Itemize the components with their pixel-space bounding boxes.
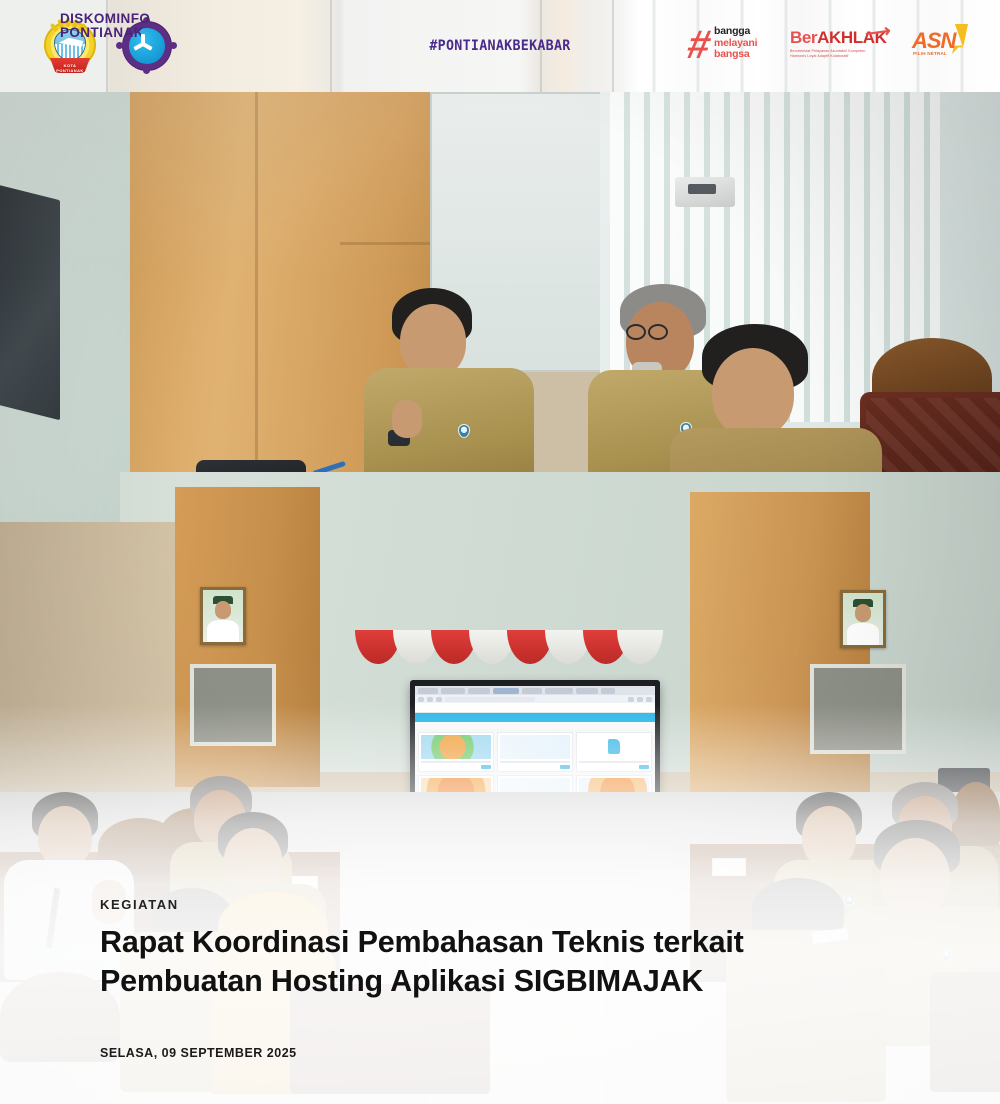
app-filter-bar[interactable]	[415, 722, 655, 729]
app-header-bar	[415, 703, 655, 713]
map-card[interactable]	[497, 732, 573, 772]
social-media-announcement-card: KOTA PONTIANAK DISKOMINFO PONTIANAK #PON…	[0, 0, 1000, 1104]
caption-block: KEGIATAN Rapat Koordinasi Pembahasan Tek…	[100, 897, 930, 1060]
bmb-line3: bangsa	[714, 49, 757, 61]
bangga-melayani-bangsa-logo: # bangga melayani bangsa	[688, 26, 770, 68]
browser-address-bar[interactable]	[415, 695, 655, 703]
header-logo-band: KOTA PONTIANAK DISKOMINFO PONTIANAK #PON…	[0, 0, 1000, 92]
caption-date: SELASA, 09 SEPTEMBER 2025	[100, 1046, 930, 1060]
person-attendee-1	[360, 288, 540, 498]
tissue-box-right	[712, 858, 746, 876]
browser-tab-strip[interactable]	[415, 686, 655, 695]
berakhlak-sub2: Harmonis Loyal Adaptif Kolaboratif	[790, 54, 888, 59]
diskominfo-line1: DISKOMINFO	[60, 12, 150, 26]
berakhlak-prefix: Ber	[790, 28, 817, 47]
bmb-hash-icon: #	[684, 28, 717, 62]
caption-title-line1: Rapat Koordinasi Pembahasan Teknis terka…	[100, 923, 930, 963]
presentation-screen-content	[415, 686, 655, 808]
emblem-ribbon: KOTA PONTIANAK	[50, 58, 90, 73]
acoustic-panel-left	[190, 664, 276, 746]
asn-tagline: PILIH NETRAL	[913, 51, 947, 56]
framed-official-portrait-right	[840, 590, 886, 648]
map-card[interactable]	[418, 732, 494, 772]
bmb-line1: bangga	[714, 26, 757, 38]
caption-title: Rapat Koordinasi Pembahasan Teknis terka…	[100, 923, 930, 1002]
acoustic-panel-right	[810, 664, 906, 754]
caption-title-line2: Pembuatan Hosting Aplikasi SIGBIMAJAK	[100, 962, 930, 1002]
caption-category-label: KEGIATAN	[100, 897, 930, 912]
wall-wood-lower-left	[0, 522, 200, 822]
asn-logo: ASN PILIH NETRAL	[912, 26, 978, 68]
chair-front-right	[930, 972, 1000, 1092]
map-card[interactable]	[576, 732, 652, 772]
red-white-bunting-decoration	[355, 630, 655, 672]
wall-monitor-left	[0, 184, 60, 420]
berakhlak-arrow-icon: ⟶	[863, 20, 891, 44]
app-nav-bar[interactable]	[415, 713, 655, 722]
berakhlak-logo: BerAKHLAK ⟶ Berorientasi Pelayanan Akunt…	[790, 28, 888, 68]
framed-official-portrait-left	[200, 587, 246, 645]
